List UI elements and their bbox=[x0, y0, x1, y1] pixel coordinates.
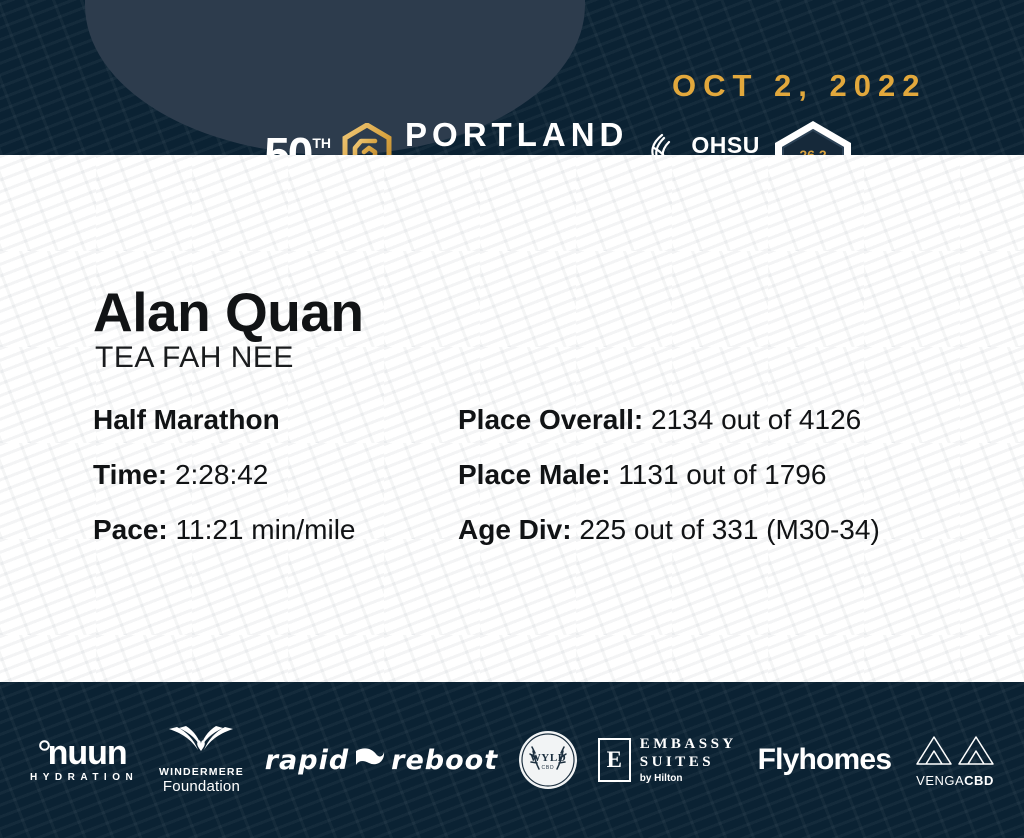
ohsu-name: OHSU bbox=[691, 134, 759, 156]
venga-cbd-label: CBD bbox=[964, 773, 994, 788]
race-date: OCT 2, 2022 bbox=[672, 68, 926, 104]
nuun-wordmark: nuun bbox=[48, 737, 127, 769]
time-label: Time: bbox=[93, 459, 167, 490]
stat-row: Time: 2:28:42 Place Male: 1131 out of 17… bbox=[93, 458, 973, 492]
results-body: Alan Quan TEA FAH NEE Half Marathon Plac… bbox=[0, 155, 1024, 682]
windermere-foundation-label: Foundation bbox=[163, 778, 240, 795]
event-wordmark: PORTLAND MARATHON PRESENTED BY bbox=[405, 118, 628, 155]
windermere-wings-icon bbox=[167, 725, 235, 764]
embassy-line1: EMBASSY bbox=[640, 735, 737, 753]
wyld-antlers-icon: WYLD CBD bbox=[519, 731, 577, 789]
embassy-line2: SUITES bbox=[640, 753, 737, 771]
sponsor-footer: nuun HYDRATION bbox=[0, 682, 1024, 838]
anniversary-number: 50 bbox=[264, 133, 311, 155]
event-distance-label: Half Marathon bbox=[93, 403, 458, 437]
place-male-value: 1131 out of 1796 bbox=[618, 459, 826, 490]
anniversary-mark: 50 TH bbox=[264, 133, 331, 155]
sponsor-venga-cbd: VENGACBD bbox=[912, 733, 998, 788]
anniversary-suffix: TH bbox=[312, 136, 331, 150]
results-stats: Half Marathon Place Overall: 2134 out of… bbox=[93, 403, 973, 568]
age-div-value: 225 out of 331 (M30-34) bbox=[579, 514, 879, 545]
venga-mountains-icon bbox=[912, 733, 998, 772]
ohsu-health-logo: OHSU Health bbox=[642, 130, 759, 156]
event-logo-lockup: 50 TH PORTLAND bbox=[0, 118, 1024, 155]
runner-name: Alan Quan bbox=[93, 282, 364, 342]
sponsor-flyhomes: Flyhomes bbox=[758, 743, 892, 777]
sponsor-embassy-suites: E EMBASSY SUITES by Hilton bbox=[598, 735, 737, 786]
stat-row: Half Marathon Place Overall: 2134 out of… bbox=[93, 403, 973, 437]
pace-value: 11:21 min/mile bbox=[176, 514, 356, 545]
event-name-line1: PORTLAND bbox=[405, 118, 628, 151]
stat-row: Pace: 11:21 min/mile Age Div: 225 out of… bbox=[93, 513, 973, 547]
runner-subtitle: TEA FAH NEE bbox=[95, 340, 294, 376]
svg-text:CBD: CBD bbox=[541, 765, 554, 771]
sponsor-rapid-reboot: rapid reboot bbox=[265, 743, 498, 778]
place-overall-label: Place Overall: bbox=[458, 404, 643, 435]
portland-hexagon-spiral-icon bbox=[341, 123, 393, 156]
rapid-word: rapid bbox=[265, 745, 349, 776]
sponsor-nuun: nuun HYDRATION bbox=[26, 737, 138, 783]
embassy-line3: by Hilton bbox=[640, 772, 737, 786]
venga-name: VENGA bbox=[916, 773, 964, 788]
svg-text:WYLD: WYLD bbox=[530, 752, 567, 764]
sponsor-windermere: WINDERMERE Foundation bbox=[159, 725, 244, 795]
nuun-drop-icon bbox=[38, 737, 48, 757]
sponsor-logo-row: nuun HYDRATION bbox=[0, 682, 1024, 838]
time-value: 2:28:42 bbox=[175, 459, 268, 490]
venga-wordmark: VENGACBD bbox=[916, 773, 994, 788]
nuun-tagline: HYDRATION bbox=[30, 772, 138, 783]
age-div-label: Age Div: bbox=[458, 514, 572, 545]
ohsu-flame-icon bbox=[642, 130, 682, 156]
header-band: 50 TH PORTLAND bbox=[0, 0, 1024, 155]
place-male-label: Place Male: bbox=[458, 459, 611, 490]
sponsor-wyld: WYLD CBD bbox=[519, 731, 577, 789]
pace-label: Pace: bbox=[93, 514, 168, 545]
rapid-reboot-mark-icon bbox=[353, 743, 387, 778]
place-overall-value: 2134 out of 4126 bbox=[651, 404, 861, 435]
race-certificate: 50 TH PORTLAND bbox=[0, 0, 1024, 838]
reboot-word: reboot bbox=[391, 745, 498, 776]
flyhomes-wordmark: Flyhomes bbox=[758, 743, 892, 777]
embassy-suites-e-icon: E bbox=[598, 738, 631, 782]
windermere-name: WINDERMERE bbox=[159, 766, 244, 778]
